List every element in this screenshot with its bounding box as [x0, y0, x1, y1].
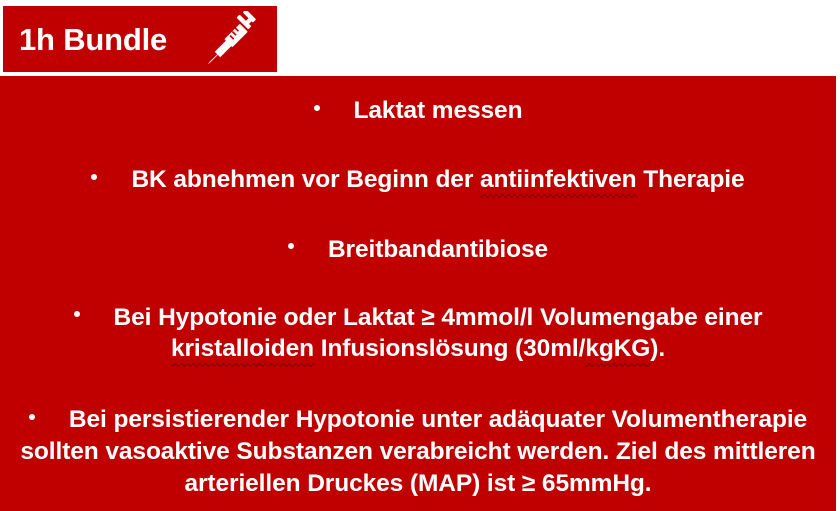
bullet-dot-icon [91, 174, 97, 180]
text-segment: BK abnehmen vor Beginn der [131, 166, 480, 193]
slide-root: 1h Bundle [0, 0, 840, 511]
bullet-dot-icon [288, 243, 294, 249]
spellcheck-error-word: kristalloiden [171, 333, 314, 365]
list-item: BK abnehmen vor Beginn der antiinfektive… [18, 163, 818, 196]
list-item: Bei persistierender Hypotonie unter adäq… [18, 403, 818, 499]
text-segment: Therapie [637, 166, 745, 193]
list-item-text: Breitbandantibiose [328, 236, 548, 263]
list-item: Breitbandantibiose [18, 233, 818, 265]
syringe-icon [167, 11, 261, 67]
text-segment: ). [650, 335, 665, 362]
bullet-dot-icon [29, 414, 35, 420]
list-item-text: Bei Hypotonie oder Laktat ≥ 4mmol/l Volu… [114, 304, 763, 363]
bullet-dot-icon [314, 105, 320, 111]
list-item-text: BK abnehmen vor Beginn der antiinfektive… [131, 166, 744, 193]
spellcheck-error-word: kgKG [585, 333, 650, 365]
spellcheck-error-word: antiinfektiven [480, 164, 637, 196]
bundle-content-panel: Laktat messen BK abnehmen vor Beginn der… [0, 76, 836, 511]
text-segment: Bei Hypotonie oder Laktat ≥ 4mmol/l Volu… [114, 304, 763, 331]
list-item: Bei Hypotonie oder Laktat ≥ 4mmol/l Volu… [18, 301, 818, 366]
bullet-dot-icon [74, 311, 80, 317]
list-item-text: Laktat messen [354, 97, 523, 124]
page-title: 1h Bundle [19, 24, 167, 55]
list-item-text: Bei persistierender Hypotonie unter adäq… [20, 406, 815, 497]
text-segment: Infusionslösung (30ml/ [314, 335, 585, 362]
list-item: Laktat messen [18, 94, 818, 126]
header-tab: 1h Bundle [3, 6, 277, 72]
